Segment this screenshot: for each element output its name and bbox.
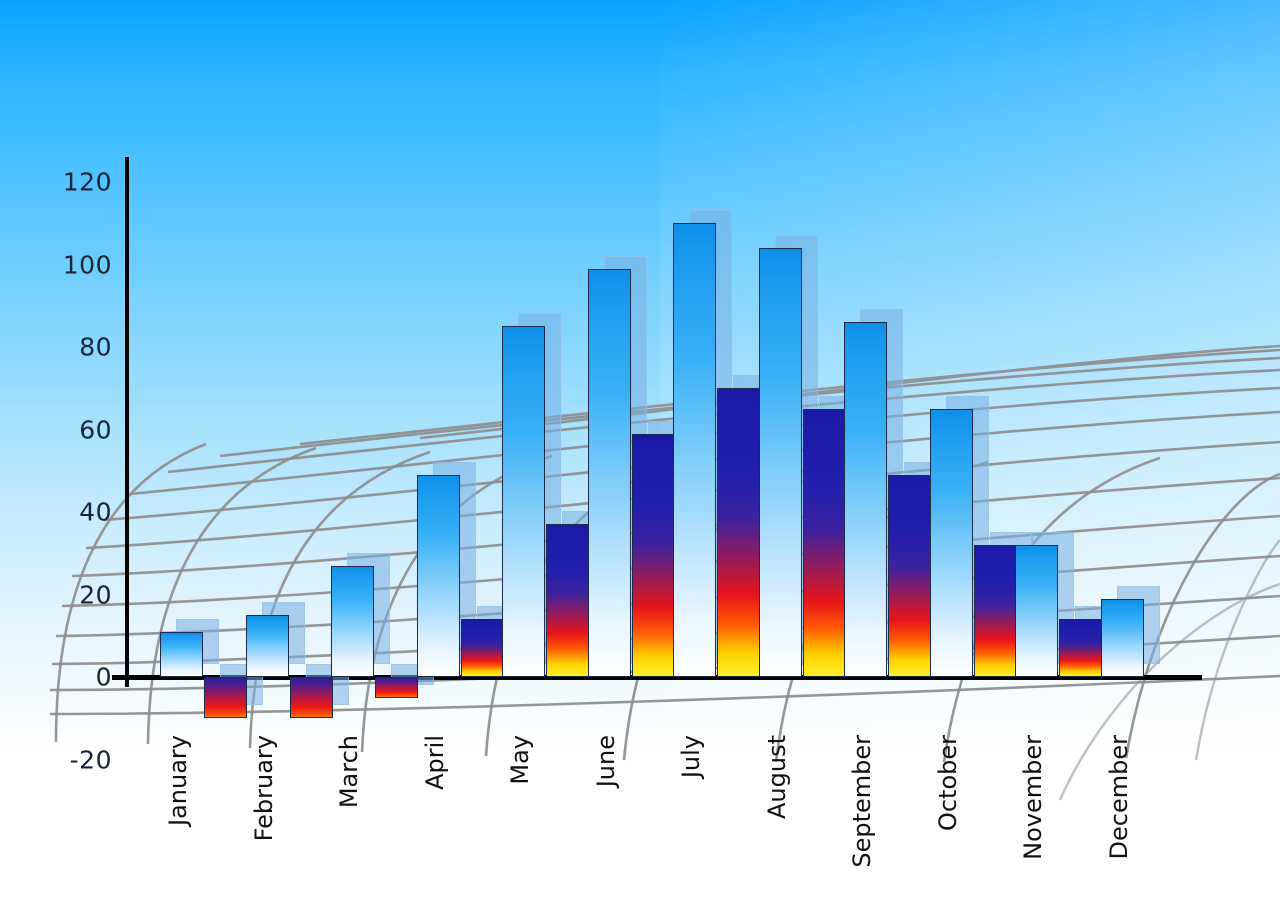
bar-series2[interactable] bbox=[1145, 0, 1188, 905]
bar-front-face bbox=[1101, 599, 1144, 677]
x-tick-label: May bbox=[506, 735, 534, 785]
plot-area: 120100806040200-20 JanuaryFebruaryMarchA… bbox=[0, 0, 1280, 905]
x-tick-label: August bbox=[763, 735, 791, 819]
chart-canvas: 120100806040200-20 JanuaryFebruaryMarchA… bbox=[0, 0, 1280, 905]
x-tick-label: June bbox=[592, 735, 620, 787]
x-tick-label: December bbox=[1105, 735, 1133, 859]
x-tick-label: October bbox=[934, 735, 962, 831]
x-tick-label: February bbox=[250, 735, 278, 841]
x-tick-label: September bbox=[848, 735, 876, 868]
x-tick-label: July bbox=[677, 735, 705, 778]
bar-group bbox=[0, 0, 1280, 905]
x-tick-label: November bbox=[1019, 735, 1047, 860]
x-tick-label: January bbox=[164, 735, 192, 826]
x-tick-label: March bbox=[335, 735, 363, 808]
x-tick-label: April bbox=[421, 735, 449, 790]
